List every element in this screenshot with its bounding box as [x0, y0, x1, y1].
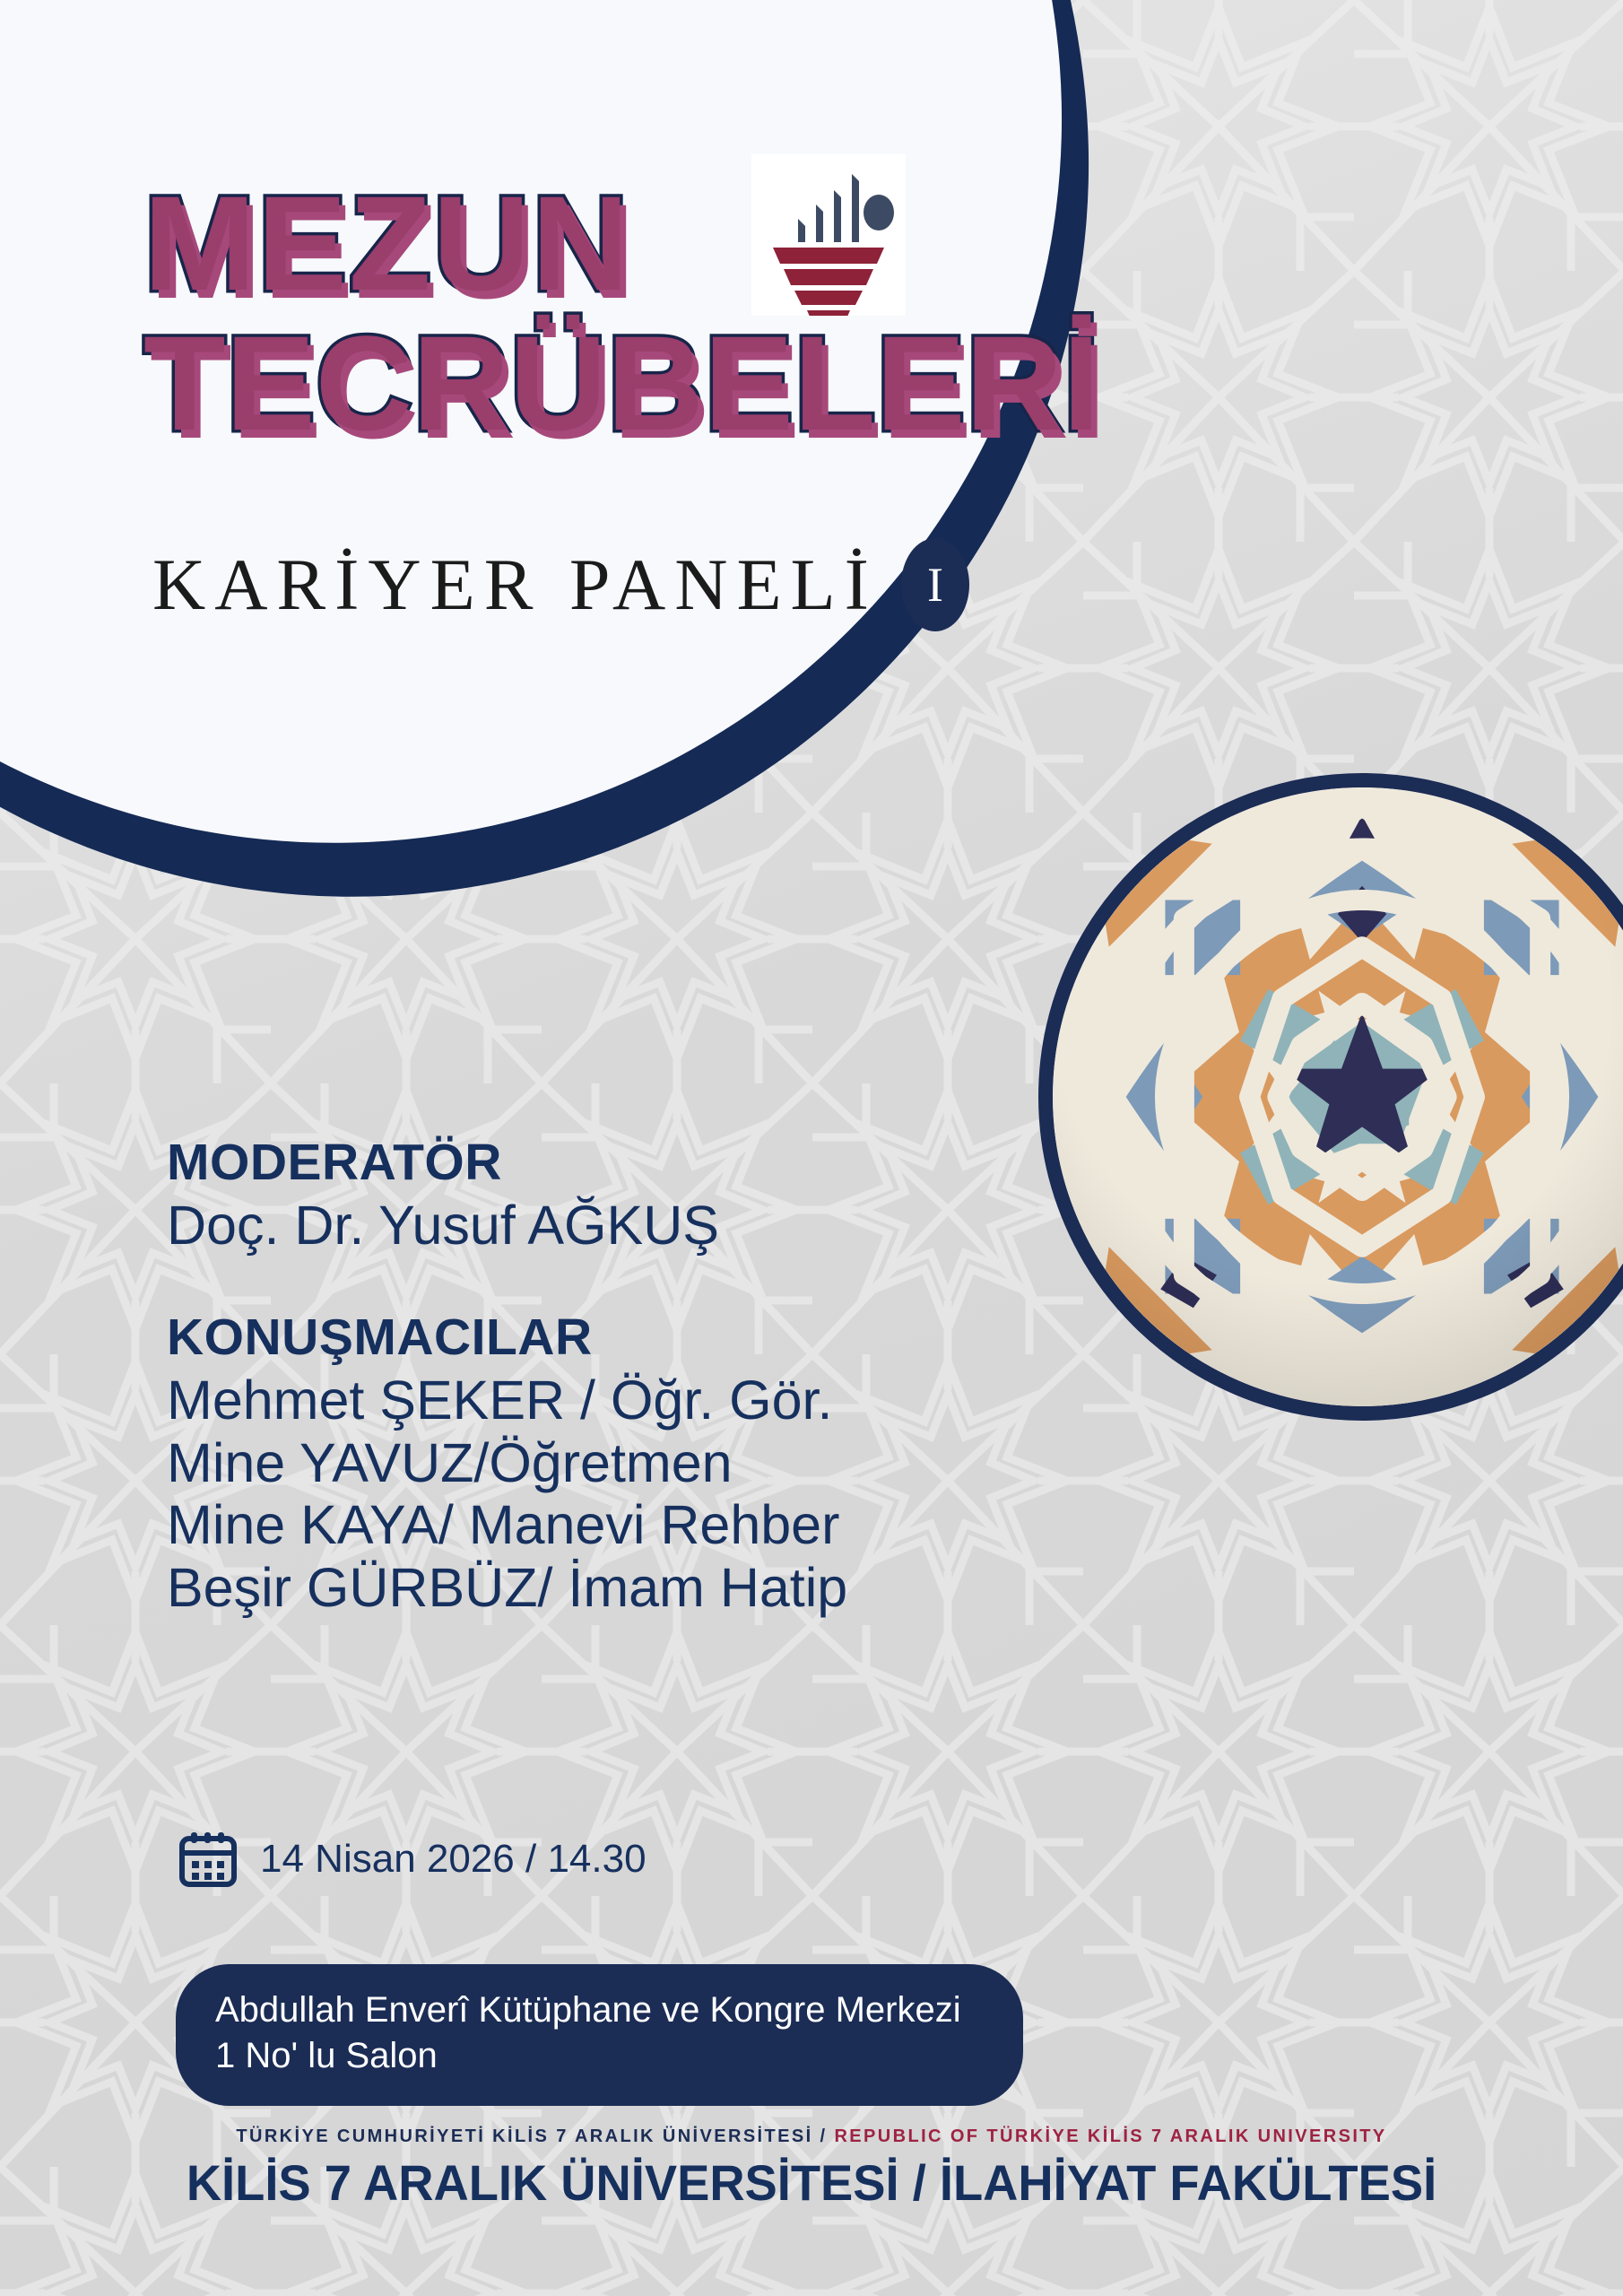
islamic-tile-ornament-image: [1038, 773, 1623, 1421]
footer-faculty-title: KİLİS 7 ARALIK ÜNİVERSİTESİ / İLAHİYAT F…: [24, 2158, 1599, 2208]
footer: TÜRKİYE CUMHURİYETİ KİLİS 7 ARALIK ÜNİVE…: [0, 2127, 1623, 2208]
poster-canvas: MEZUN: [0, 0, 1623, 2296]
footer-separator: /: [813, 2126, 835, 2146]
moderator-name: Doç. Dr. Yusuf AĞKUŞ: [167, 1195, 1063, 1256]
spacer: [167, 1257, 1063, 1310]
panel-number-badge: I: [901, 538, 969, 631]
moderator-heading: MODERATÖR: [167, 1135, 1063, 1189]
main-content: MODERATÖR Doç. Dr. Yusuf AĞKUŞ KONUŞMACI…: [167, 1135, 1063, 1619]
subtitle-text: KARİYER PANELİ: [152, 548, 878, 622]
title-row-2: TECRÜBELERİ: [0, 316, 1166, 468]
speaker-item: Mehmet ŞEKER / Öğr. Gör.: [167, 1370, 1063, 1432]
page-title-line1: MEZUN: [143, 176, 630, 310]
schedule-row: 14 Nisan 2026 / 14.30: [179, 1831, 647, 1887]
date-time-text: 14 Nisan 2026 / 14.30: [260, 1839, 647, 1879]
speakers-heading: KONUŞMACILAR: [167, 1310, 1063, 1364]
footer-turkish-name: TÜRKİYE CUMHURİYETİ KİLİS 7 ARALIK ÜNİVE…: [236, 2126, 812, 2146]
title-row-1: MEZUN: [0, 176, 1166, 328]
subtitle-row: KARİYER PANELİ I: [152, 538, 969, 631]
venue-pill: Abdullah Enverî Kütüphane ve Kongre Merk…: [176, 1964, 1023, 2106]
speaker-item: Mine YAVUZ/Öğretmen: [167, 1432, 1063, 1495]
venue-line-2: 1 No' lu Salon: [215, 2033, 984, 2079]
moderator-block: MODERATÖR Doç. Dr. Yusuf AĞKUŞ: [167, 1135, 1063, 1257]
university-logo: [751, 154, 906, 316]
speakers-block: KONUŞMACILAR Mehmet ŞEKER / Öğr. Gör. Mi…: [167, 1310, 1063, 1620]
speaker-item: Mine KAYA/ Manevi Rehber: [167, 1494, 1063, 1557]
footer-english-name: REPUBLIC OF TÜRKİYE KİLİS 7 ARALIK UNIVE…: [834, 2126, 1386, 2146]
footer-bilingual-line: TÜRKİYE CUMHURİYETİ KİLİS 7 ARALIK ÜNİVE…: [0, 2127, 1623, 2145]
page-title-line2: TECRÜBELERİ: [143, 316, 1100, 450]
calendar-icon: [179, 1831, 237, 1887]
speaker-item: Beşir GÜRBÜZ/ İmam Hatip: [167, 1557, 1063, 1620]
title-block: MEZUN: [0, 176, 1166, 468]
venue-line-1: Abdullah Enverî Kütüphane ve Kongre Merk…: [215, 1987, 984, 2033]
